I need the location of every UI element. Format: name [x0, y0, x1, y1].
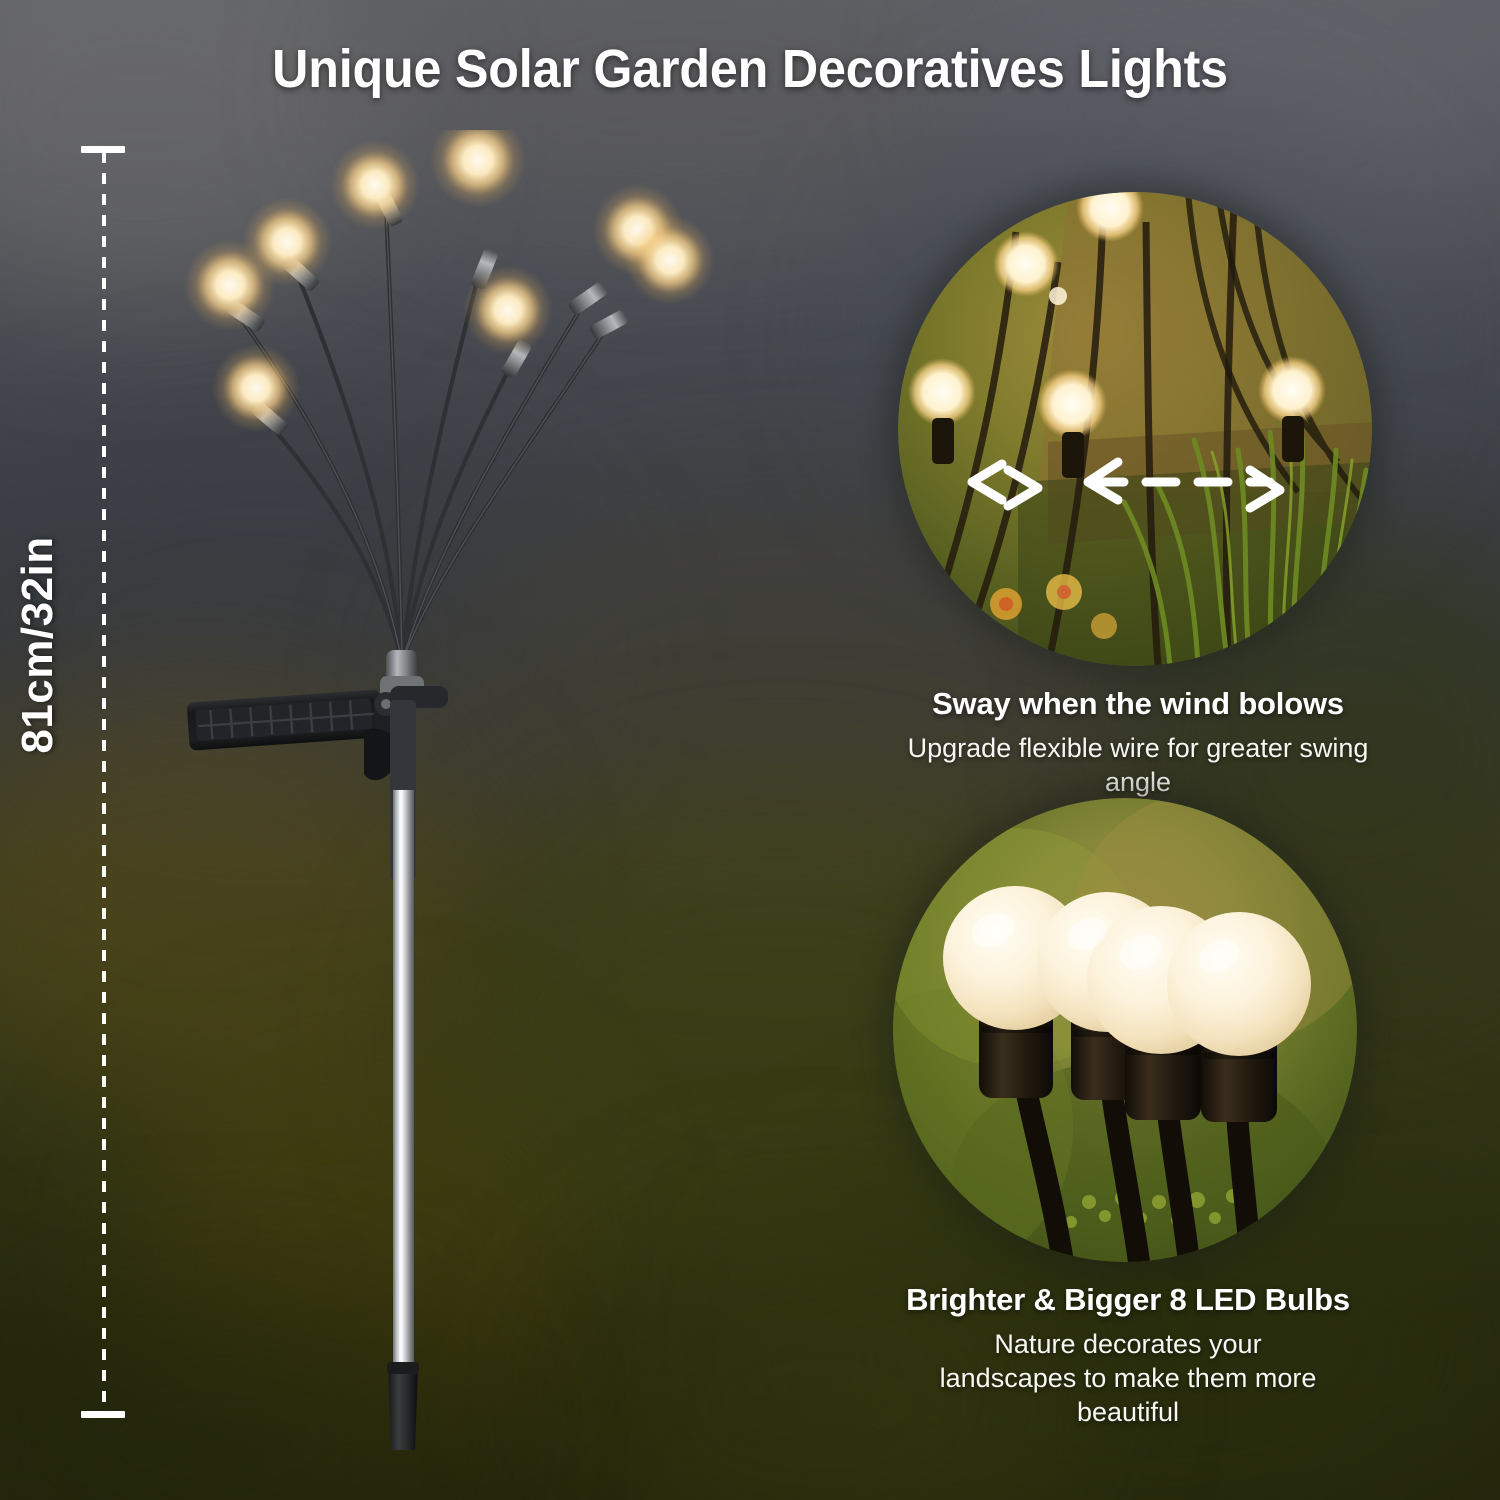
product-svg: [150, 130, 750, 1450]
stainless-pole: [393, 790, 414, 1370]
feature-bulbs-subtext: Nature decorates your landscapes to make…: [893, 1327, 1363, 1429]
height-dimension-line: [94, 146, 112, 1418]
bulb-closeup-scene: [893, 798, 1357, 1262]
feature-sway-caption: Sway when the wind bolows Upgrade flexib…: [898, 686, 1378, 799]
led-bulb: [430, 130, 526, 208]
feature-bulbs-image: [893, 798, 1357, 1262]
page-title: Unique Solar Garden Decoratives Lights: [53, 38, 1448, 100]
feature-bulbs-caption: Brighter & Bigger 8 LED Bulbs Nature dec…: [893, 1282, 1363, 1429]
feature-sway-subtext: Upgrade flexible wire for greater swing …: [898, 731, 1378, 799]
stake-collar: [387, 1362, 419, 1374]
product-image: [150, 130, 750, 1450]
led-bulb: [625, 215, 715, 305]
pole-highlight: [399, 790, 403, 1370]
led-bulb: [463, 265, 553, 355]
dimension-cap-bottom: [81, 1411, 125, 1418]
led-bulb: [330, 140, 420, 230]
feature-bulbs-heading: Brighter & Bigger 8 LED Bulbs: [893, 1282, 1363, 1318]
garden-scene: [898, 192, 1372, 666]
led-bulb: [212, 344, 300, 432]
ground-stake-tip: [388, 1368, 418, 1450]
dimension-dashed-line: [102, 152, 106, 1412]
led-bulb: [242, 197, 332, 287]
feature-sway-heading: Sway when the wind bolows: [898, 686, 1378, 722]
feature-sway-image: [898, 192, 1372, 666]
dimension-label: 81cm/32in: [13, 485, 63, 805]
product-infographic: Unique Solar Garden Decoratives Lights 8…: [0, 0, 1500, 1500]
